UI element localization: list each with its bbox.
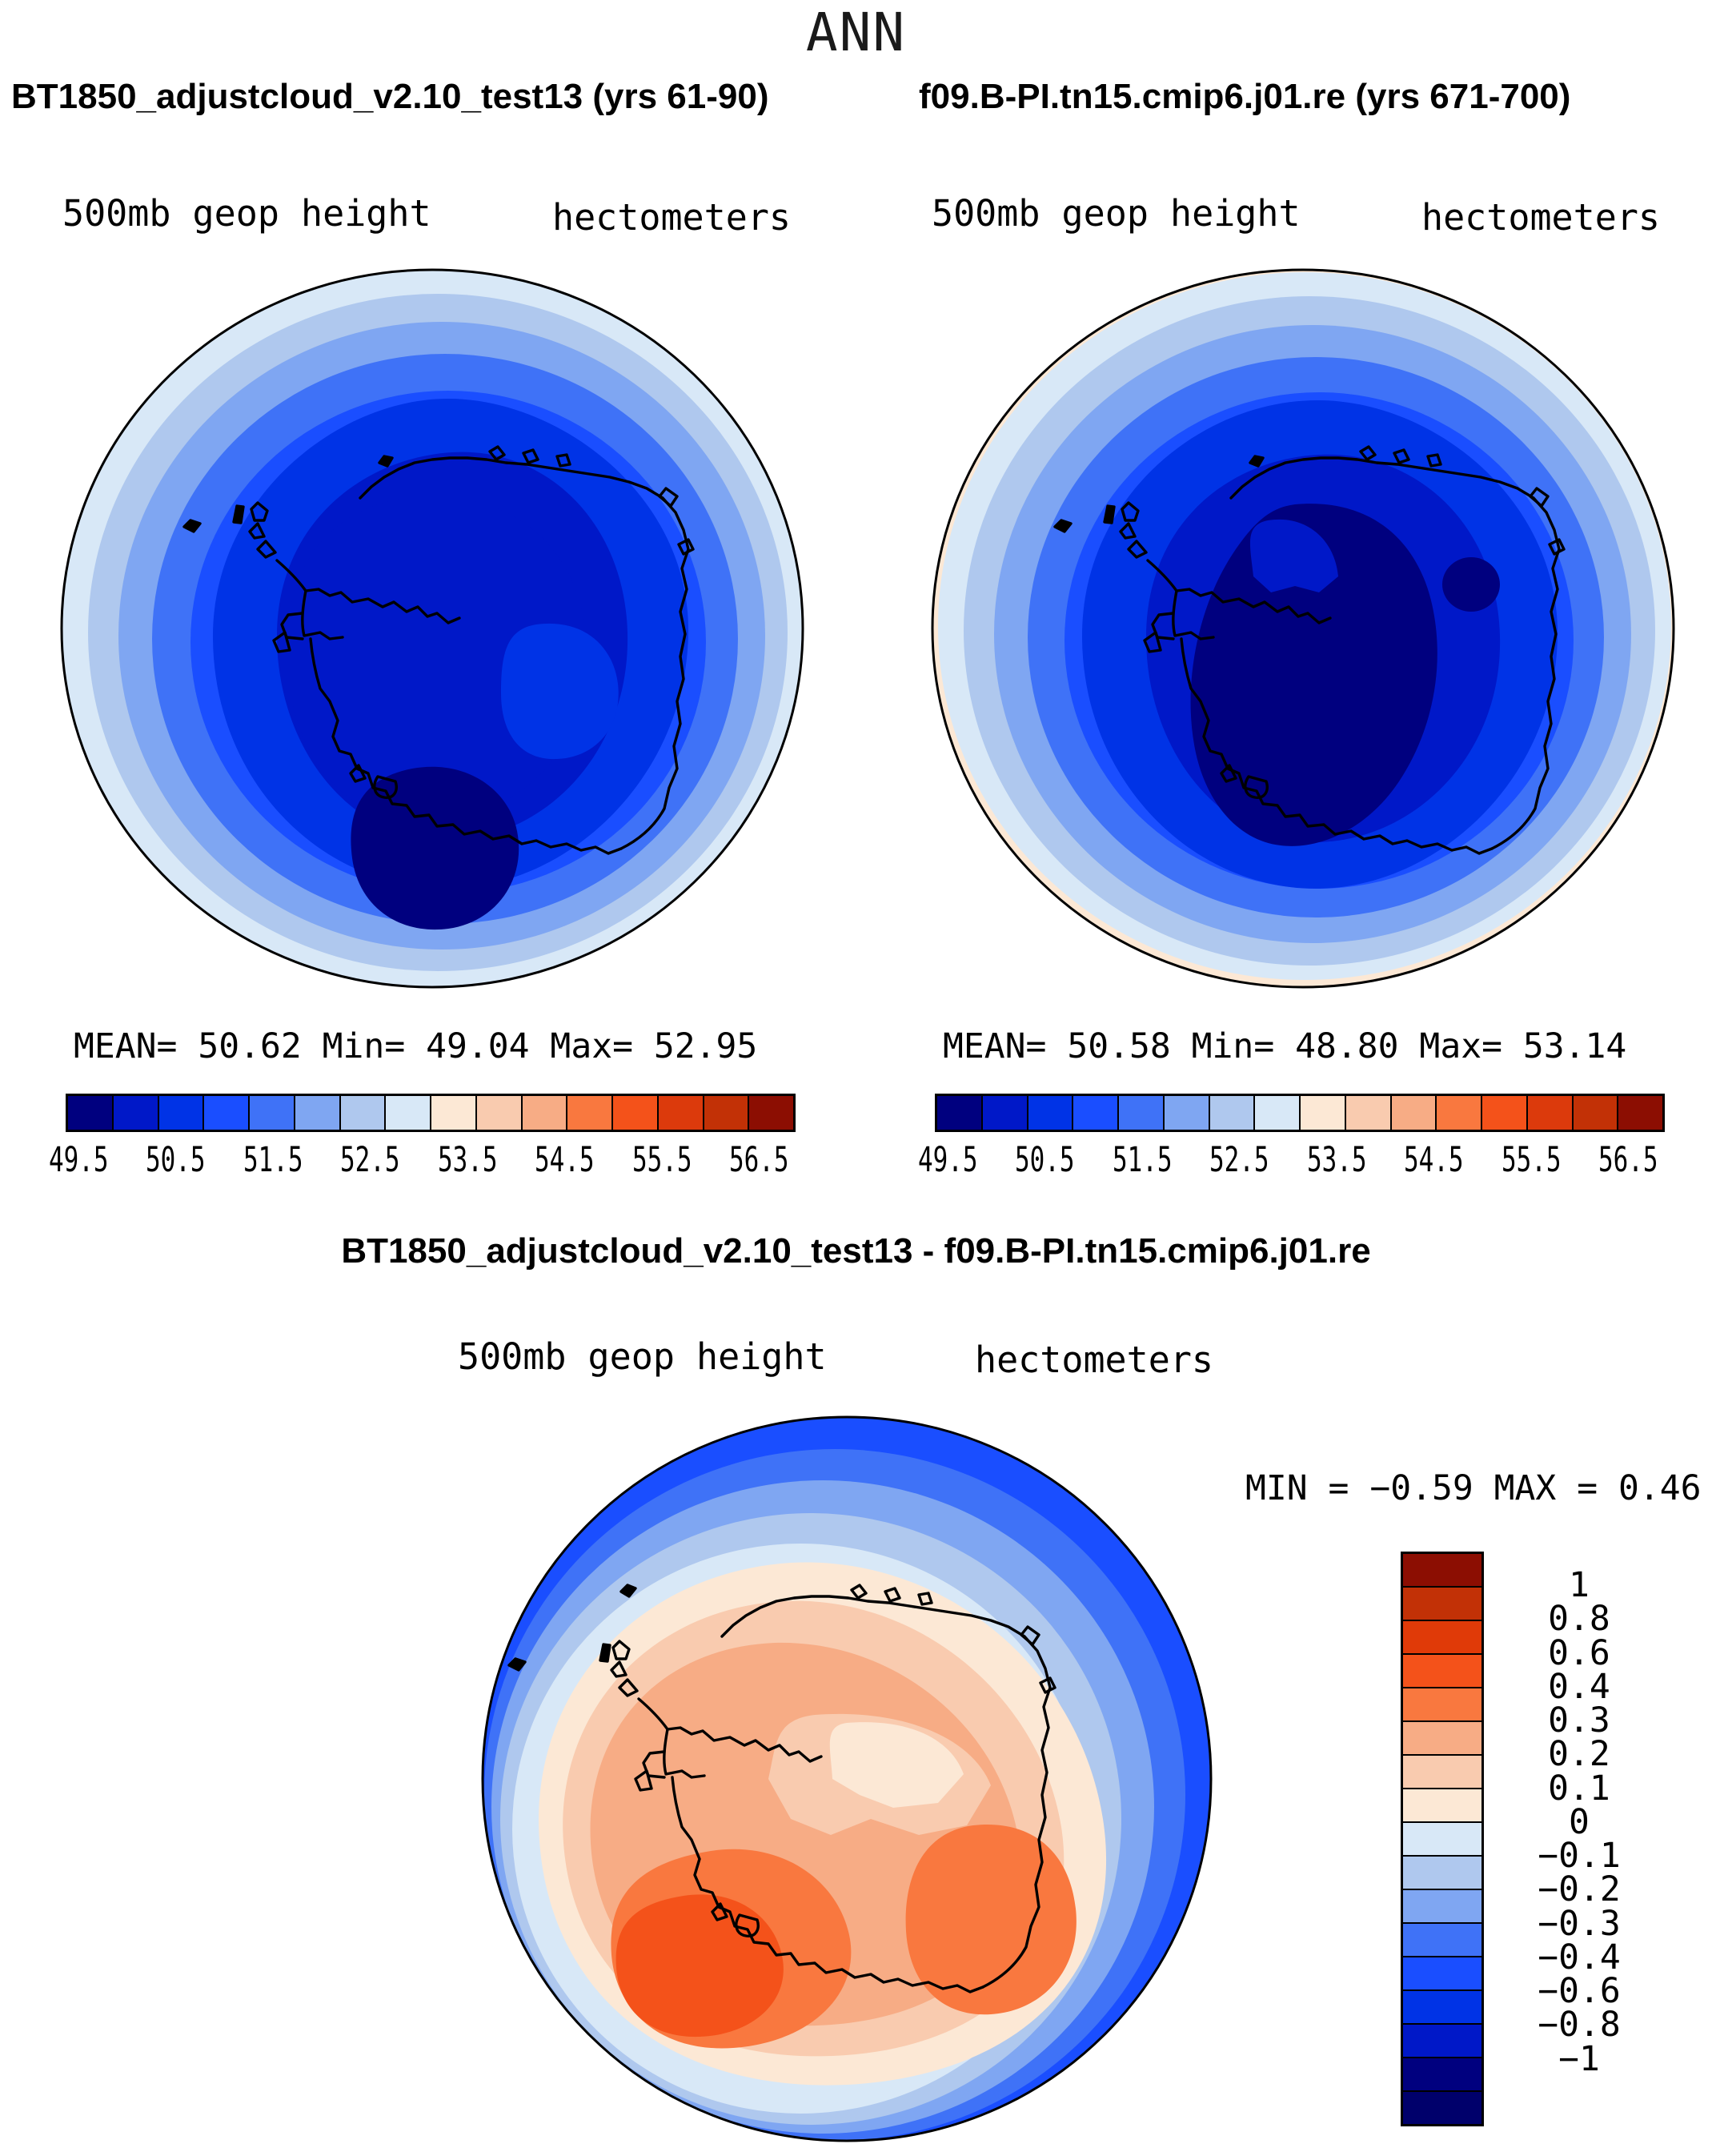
colorbar-tick-label: 53.5	[1307, 1140, 1367, 1180]
colorbar-tick-label: 52.5	[1209, 1140, 1269, 1180]
colorbar-cell	[68, 1096, 114, 1130]
colorbar-cell	[659, 1096, 704, 1130]
difference-polar-map	[471, 1403, 1231, 2147]
difference-contour-bands	[483, 1417, 1211, 2141]
season-title: ANN	[0, 2, 1712, 63]
colorbar-cell	[937, 1096, 983, 1130]
colorbar-cell	[613, 1096, 659, 1130]
colorbar-cell	[1403, 1588, 1481, 1621]
colorbar-cell	[567, 1096, 613, 1130]
colorbar-cell	[1073, 1096, 1119, 1130]
colorbar-cell	[1403, 1756, 1481, 1789]
left-colorbar[interactable]	[66, 1094, 796, 1132]
right-polar-map	[919, 256, 1687, 1001]
colorbar-tick-label: 49.5	[49, 1140, 109, 1180]
colorbar-tick-label: 54.5	[1404, 1140, 1464, 1180]
colorbar-tick-label: 50.5	[146, 1140, 206, 1180]
right-stats: MEAN= 50.58 Min= 48.80 Max= 53.14	[943, 1026, 1626, 1066]
right-contour-bands	[932, 270, 1674, 987]
colorbar-cell	[1482, 1096, 1528, 1130]
colorbar-tick-label: 49.5	[918, 1140, 978, 1180]
left-panel-title: BT1850_adjustcloud_v2.10_test13 (yrs 61-…	[11, 77, 769, 117]
diff-variable-label: 500mb geop height	[458, 1335, 827, 1378]
colorbar-cell	[1403, 1722, 1481, 1756]
colorbar-cell	[477, 1096, 523, 1130]
colorbar-tick-label: 55.5	[632, 1140, 692, 1180]
difference-minmax: MIN = −0.59 MAX = 0.46	[1245, 1468, 1702, 1508]
colorbar-tick-label: 56.5	[729, 1140, 789, 1180]
colorbar-cell	[1403, 2058, 1481, 2092]
colorbar-cell	[1119, 1096, 1165, 1130]
colorbar-cell	[204, 1096, 250, 1130]
colorbar-cell	[704, 1096, 750, 1130]
colorbar-cell	[1403, 1857, 1481, 1890]
colorbar-cell	[523, 1096, 568, 1130]
diff-units-label: hectometers	[975, 1339, 1213, 1381]
left-variable-label: 500mb geop height	[62, 192, 431, 235]
colorbar-cell	[1346, 1096, 1392, 1130]
colorbar-tick-label: 54.5	[535, 1140, 595, 1180]
difference-panel-title: BT1850_adjustcloud_v2.10_test13 - f09.B-…	[0, 1231, 1712, 1271]
colorbar-cell	[1028, 1096, 1074, 1130]
left-colorbar-ticks: 49.550.551.552.553.554.555.556.5	[42, 1140, 820, 1180]
colorbar-cell	[983, 1096, 1028, 1130]
colorbar-cell	[1618, 1096, 1662, 1130]
colorbar-cell	[1403, 1823, 1481, 1857]
colorbar-cell	[1403, 1554, 1481, 1588]
colorbar-tick-label: 55.5	[1502, 1140, 1562, 1180]
colorbar-cell	[1403, 1890, 1481, 1924]
left-polar-map	[48, 256, 816, 1001]
colorbar-cell	[114, 1096, 159, 1130]
colorbar-cell	[1392, 1096, 1437, 1130]
colorbar-cell	[159, 1096, 205, 1130]
difference-colorbar[interactable]	[1401, 1552, 1484, 2126]
right-panel-title: f09.B-PI.tn15.cmip6.j01.re (yrs 671-700)	[919, 77, 1570, 117]
colorbar-cell	[1403, 1688, 1481, 1722]
left-stats: MEAN= 50.62 Min= 49.04 Max= 52.95	[74, 1026, 757, 1066]
colorbar-tick-label: 52.5	[340, 1140, 400, 1180]
colorbar-tick-label: 56.5	[1598, 1140, 1658, 1180]
colorbar-cell	[250, 1096, 295, 1130]
colorbar-cell	[1403, 1655, 1481, 1688]
colorbar-cell	[1403, 1924, 1481, 1957]
colorbar-cell	[1403, 2092, 1481, 2124]
colorbar-cell	[386, 1096, 431, 1130]
colorbar-tick-label: 51.5	[243, 1140, 303, 1180]
colorbar-cell	[1574, 1096, 1619, 1130]
colorbar-cell	[1528, 1096, 1574, 1130]
right-colorbar[interactable]	[935, 1094, 1665, 1132]
colorbar-cell	[341, 1096, 387, 1130]
colorbar-cell	[1210, 1096, 1256, 1130]
left-units-label: hectometers	[552, 196, 791, 239]
colorbar-tick-label: 53.5	[438, 1140, 498, 1180]
colorbar-cell	[1437, 1096, 1482, 1130]
colorbar-cell	[1403, 2025, 1481, 2058]
colorbar-cell	[1301, 1096, 1346, 1130]
right-units-label: hectometers	[1421, 196, 1660, 239]
colorbar-cell	[1165, 1096, 1210, 1130]
left-contour-bands	[62, 270, 803, 987]
colorbar-cell	[1403, 1789, 1481, 1823]
colorbar-tick-label: 51.5	[1113, 1140, 1173, 1180]
difference-colorbar-labels: 10.80.60.40.30.20.10−0.1−0.2−0.3−0.4−0.6…	[1503, 1552, 1687, 2126]
colorbar-cell	[1403, 1621, 1481, 1655]
colorbar-cell	[1255, 1096, 1301, 1130]
colorbar-cell	[749, 1096, 793, 1130]
colorbar-cell	[295, 1096, 341, 1130]
right-colorbar-ticks: 49.550.551.552.553.554.555.556.5	[911, 1140, 1689, 1180]
right-variable-label: 500mb geop height	[932, 192, 1301, 235]
colorbar-cell	[431, 1096, 477, 1130]
colorbar-cell	[1403, 1991, 1481, 2025]
colorbar-tick-label: 50.5	[1015, 1140, 1075, 1180]
colorbar-cell	[1403, 1957, 1481, 1991]
